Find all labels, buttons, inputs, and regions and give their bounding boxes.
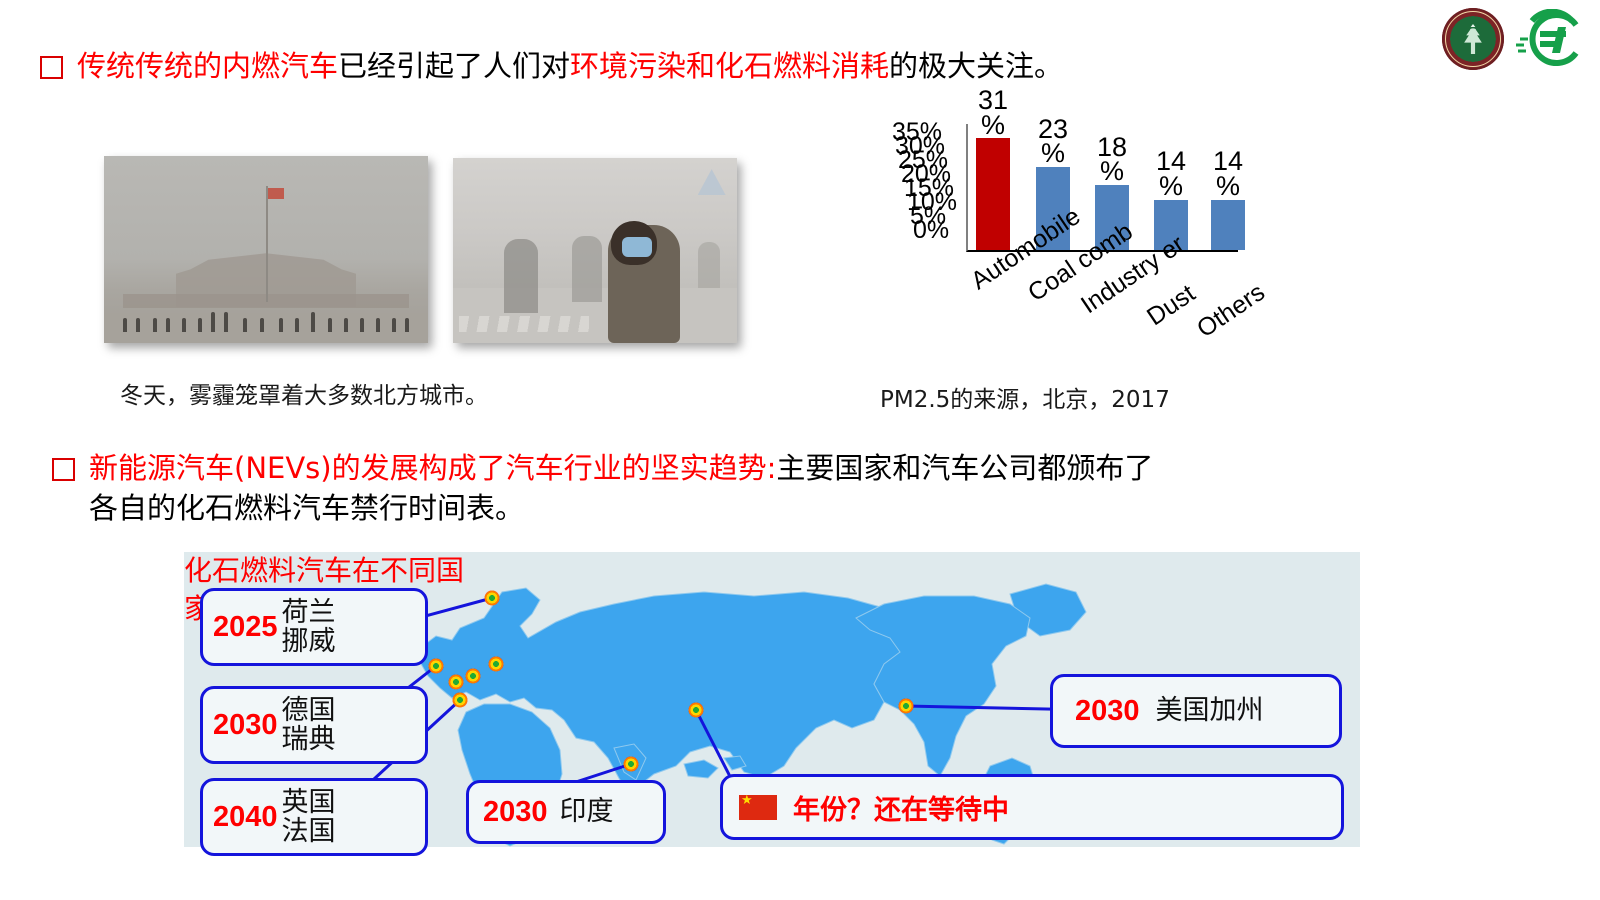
bar-value-label-4: 14% [1213,149,1243,199]
bullet-1-seg-1: 传统传统的内燃汽车 [77,49,338,83]
bullet-point-1: 传统传统的内燃汽车已经引起了人们对环境污染和化石燃料消耗的极大关注。 [40,46,1280,86]
callout-country-2b: 瑞典 [282,725,336,754]
ev-green-logo [1514,9,1590,69]
callout-china[interactable]: 年份？还在等待中 [720,774,1344,840]
china-flag-icon [739,795,777,820]
callout-india[interactable]: 2030 印度 [466,780,666,844]
bullet-1-seg-4: 的极大关注。 [889,49,1063,83]
callout-country-1b: 挪威 [282,627,336,656]
marker-netherlands [449,675,464,690]
callout-country-2a: 德国 [282,696,336,725]
marker-uk [429,659,444,674]
bullet-1-seg-2: 已经引起了人们对 [338,49,570,83]
marker-india [624,757,639,772]
bar-value-label-3: 14% [1156,149,1186,199]
marker-sweden [489,657,504,672]
square-bullet-icon-2 [52,458,75,481]
photo-caption: 冬天，雾霾笼罩着大多数北方城市。 [120,376,488,410]
callout-year-6: 2030 [1075,695,1140,728]
chart-x-axis-labels: AutomobileCoal combIndustry erDustOthers [966,258,1266,368]
marker-usa [899,699,914,714]
callout-year-3: 2040 [213,801,278,834]
callout-uk-france[interactable]: 2040 英国 法国 [200,778,428,856]
callout-country-3b: 法国 [282,817,336,846]
callout-country-6: 美国加州 [1156,696,1264,725]
callout-countries-1: 荷兰 挪威 [282,598,336,656]
callout-netherlands-norway[interactable]: 2025 荷兰 挪威 [200,588,428,666]
callout-usa-california[interactable]: 2030 美国加州 [1050,674,1342,748]
callout-country-3a: 英国 [282,788,336,817]
pm25-source-bar-chart: 35%30%25%20%15%10%5%0% 31%23%18%14%14% A… [890,108,1250,378]
callout-countries-2: 德国 瑞典 [282,696,336,754]
bar-others: 14% [1211,200,1245,250]
marker-france [453,693,468,708]
woman-wearing-mask-in-smog-photo [453,158,737,343]
bar-value-label-0: 31% [978,88,1008,138]
smoggy-tiananmen-square-photo [104,156,428,343]
y-tick-0pct: 0% [913,216,949,245]
bullet-1-text: 传统传统的内燃汽车已经引起了人们对环境污染和化石燃料消耗的极大关注。 [77,46,1063,86]
bullet-2-text: 新能源汽车(NEVs)的发展构成了汽车行业的坚实趋势:主要国家和汽车公司都颁布了… [89,448,1182,528]
bar-value-label-1: 23% [1038,117,1068,167]
callout-country-1a: 荷兰 [282,598,336,627]
logo-group [1442,8,1590,70]
marker-china [689,703,704,718]
callout-countries-3: 英国 法国 [282,788,336,846]
world-map-panel: 化石燃料汽车在不同国 家的禁行时间表 2025 荷兰 挪威 2030 德国 瑞典… [184,552,1360,847]
callout-china-text: 年份？还在等待中 [793,788,1009,827]
x-tick-dust: Dust [1142,279,1201,332]
callout-year-4: 2030 [483,796,548,829]
bullet-point-2: 新能源汽车(NEVs)的发展构成了汽车行业的坚实趋势:主要国家和汽车公司都颁布了… [52,448,1182,528]
bullet-2-seg-1: 新能源汽车(NEVs)的发展构成了汽车行业的坚实趋势: [89,451,776,485]
callout-year-1: 2025 [213,611,278,644]
square-bullet-icon [40,56,63,79]
callout-country-4: 印度 [560,797,614,826]
bar-automobile: 31% [976,138,1010,250]
marker-norway [485,591,500,606]
chart-caption: PM2.5的来源，北京，2017 [880,380,1170,414]
marker-germany [466,669,481,684]
bar-value-label-2: 18% [1097,135,1127,185]
bullet-1-seg-3: 环境污染和化石燃料消耗 [570,49,889,83]
chart-y-axis-labels: 35%30%25%20%15%10%5%0% [892,118,966,250]
university-seal-logo [1442,8,1504,70]
x-tick-others: Others [1192,278,1270,344]
callout-year-2: 2030 [213,709,278,742]
callout-germany-sweden[interactable]: 2030 德国 瑞典 [200,686,428,764]
